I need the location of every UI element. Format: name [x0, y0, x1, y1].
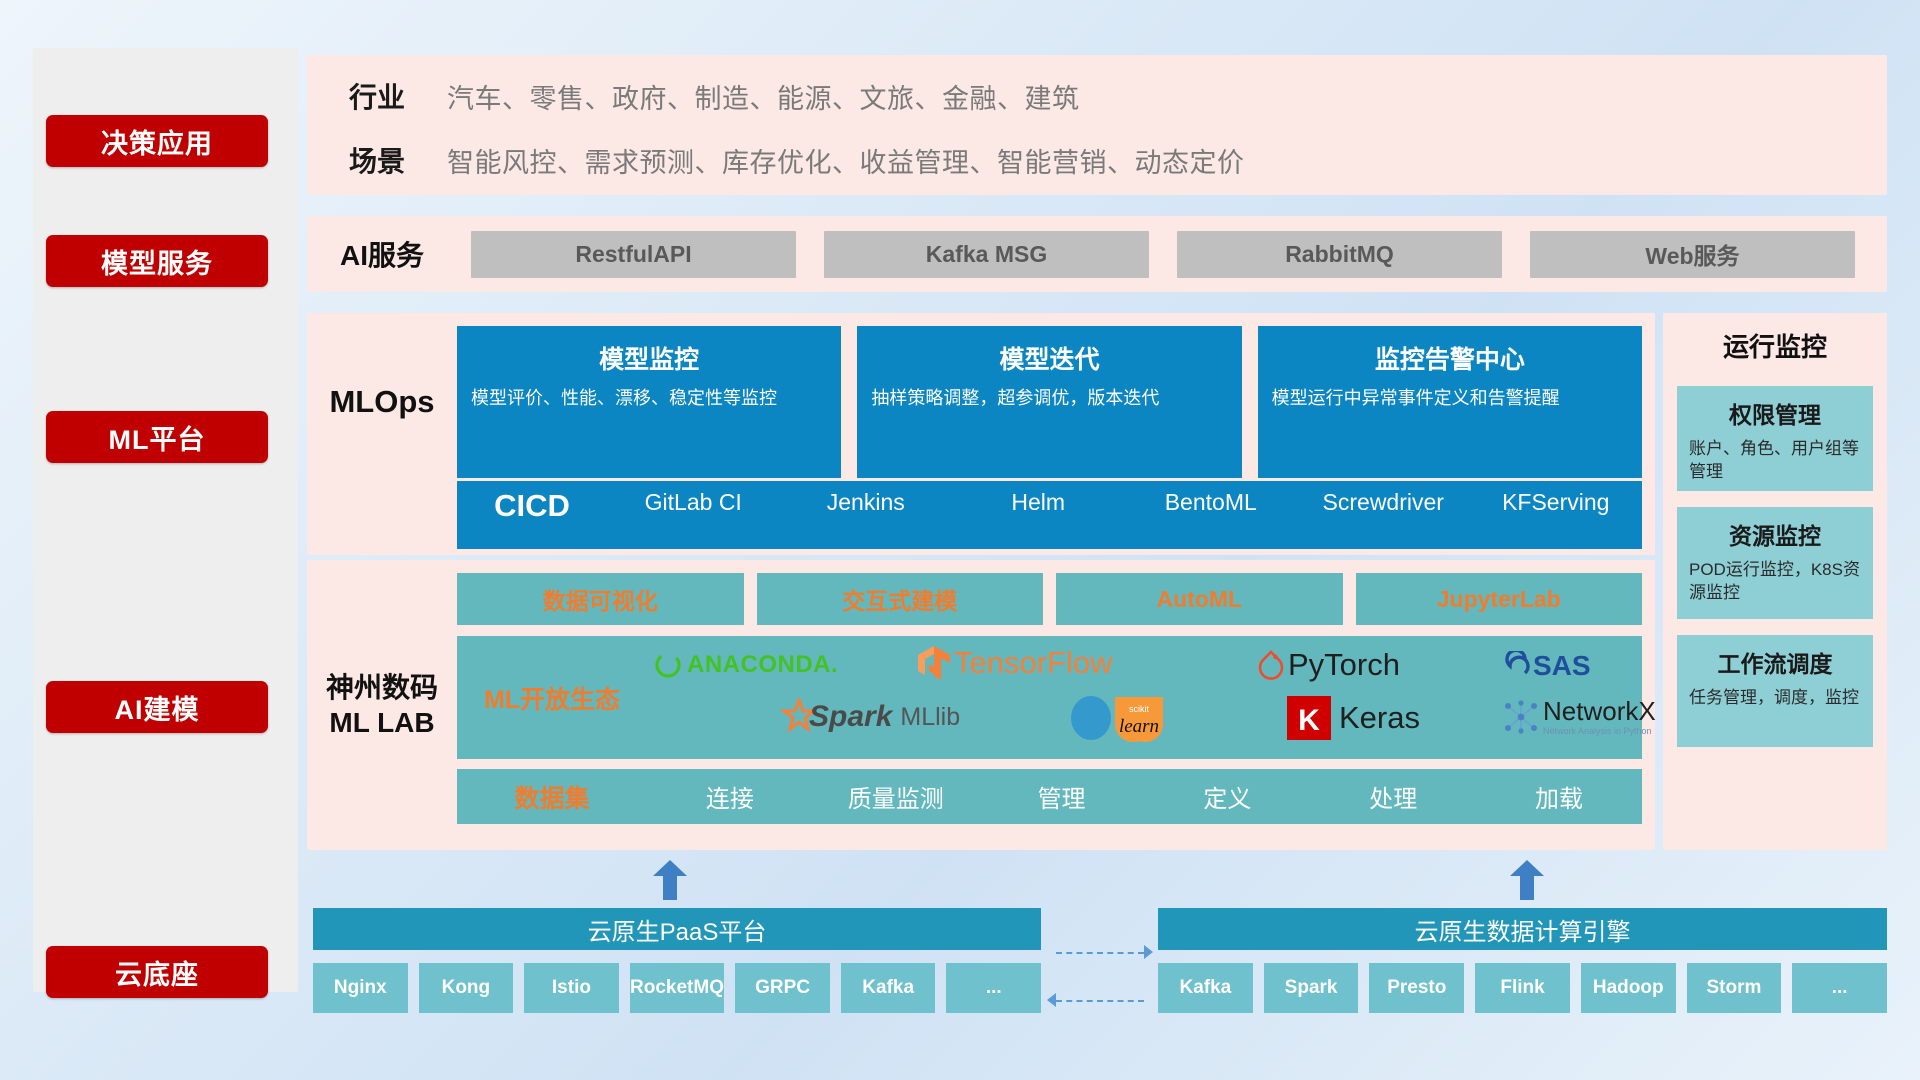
- tensorflow-logo: TensorFlow: [917, 644, 1113, 682]
- monitor-card-title: 权限管理: [1689, 396, 1861, 430]
- sas-logo: SAS: [1502, 650, 1591, 682]
- engine-chip-kafka[interactable]: Kafka: [1158, 963, 1253, 1013]
- svg-text:learn: learn: [1119, 716, 1159, 737]
- paas-chip-kong[interactable]: Kong: [419, 963, 514, 1013]
- ml-ecosystem-title: ML开放生态: [457, 680, 647, 716]
- engine-title: 云原生数据计算引擎: [1158, 908, 1887, 950]
- monitor-card-desc: POD运行监控，K8S资源监控: [1689, 559, 1861, 605]
- sas-icon: [1502, 651, 1532, 681]
- ai-service-chip-rabbitmq[interactable]: RabbitMQ: [1177, 231, 1502, 278]
- spark-icon: [767, 698, 813, 736]
- engine-chip-hadoop[interactable]: Hadoop: [1581, 963, 1676, 1013]
- monitor-card-permission[interactable]: 权限管理 账户、角色、用户组等管理: [1677, 386, 1873, 491]
- cicd-tool-gitlab-ci[interactable]: GitLab CI: [607, 489, 780, 515]
- dataset-item-process[interactable]: 处理: [1310, 779, 1476, 814]
- svg-text:scikit: scikit: [1129, 704, 1149, 714]
- ml-lab-tool-jupyterlab[interactable]: JupyterLab: [1356, 573, 1643, 625]
- monitor-card-desc: 账户、角色、用户组等管理: [1689, 438, 1861, 484]
- mlops-card-alert-center[interactable]: 监控告警中心 模型运行中异常事件定义和告警提醒: [1258, 326, 1642, 478]
- paas-block: 云原生PaaS平台 Nginx Kong Istio RocketMQ GRPC…: [313, 908, 1041, 1013]
- ml-lab-tool-data-visualization[interactable]: 数据可视化: [457, 573, 744, 625]
- application-band: 行业 汽车、零售、政府、制造、能源、文旅、金融、建筑 场景 智能风控、需求预测、…: [307, 55, 1887, 195]
- mlops-card-title: 模型监控: [471, 340, 827, 376]
- dataset-item-manage[interactable]: 管理: [979, 779, 1145, 814]
- cicd-brand: CICD: [457, 489, 607, 523]
- svg-text:K: K: [1298, 704, 1320, 737]
- engine-chip-storm[interactable]: Storm: [1687, 963, 1782, 1013]
- mlops-card-title: 模型迭代: [871, 340, 1227, 376]
- cicd-tool-helm[interactable]: Helm: [952, 489, 1125, 515]
- ai-service-label: AI服务: [307, 234, 457, 274]
- anaconda-logo: ANACONDA.: [653, 650, 838, 680]
- paas-chip-nginx[interactable]: Nginx: [313, 963, 408, 1013]
- layer-tag-model-service[interactable]: 模型服务: [46, 235, 268, 287]
- dataset-item-connect[interactable]: 连接: [647, 779, 813, 814]
- monitor-card-desc: 任务管理，调度，监控: [1689, 687, 1861, 710]
- networkx-label: NetworkX: [1543, 698, 1656, 724]
- dataset-title: 数据集: [457, 779, 647, 815]
- cicd-tool-kfserving[interactable]: KFServing: [1470, 489, 1643, 515]
- paas-chip-grpc[interactable]: GRPC: [735, 963, 830, 1013]
- keras-label: Keras: [1339, 700, 1420, 736]
- tensorflow-icon: [917, 644, 951, 682]
- pytorch-logo: PyTorch: [1257, 647, 1400, 683]
- scenario-label: 场景: [307, 140, 447, 180]
- ml-ecosystem-row: ML开放生态 ANACONDA.: [457, 636, 1642, 759]
- pytorch-icon: [1257, 649, 1285, 681]
- layer-tag-cloud-base[interactable]: 云底座: [46, 946, 268, 998]
- layer-tag-decision[interactable]: 决策应用: [46, 115, 268, 167]
- engine-up-arrow: [1510, 860, 1544, 900]
- ai-service-chip-restfulapi[interactable]: RestfulAPI: [471, 231, 796, 278]
- connector-left-arrowhead: [1047, 993, 1056, 1007]
- monitor-card-title: 资源监控: [1689, 517, 1861, 551]
- scikit-learn-icon: scikit learn: [1065, 694, 1169, 742]
- anaconda-label: ANACONDA.: [687, 651, 838, 679]
- industry-values: 汽车、零售、政府、制造、能源、文旅、金融、建筑: [447, 77, 1080, 116]
- ai-service-band: AI服务 RestfulAPI Kafka MSG RabbitMQ Web服务: [307, 216, 1887, 292]
- layer-tag-ml-platform[interactable]: ML平台: [46, 411, 268, 463]
- paas-chip-rocketmq[interactable]: RocketMQ: [630, 963, 725, 1013]
- cicd-tool-screwdriver[interactable]: Screwdriver: [1297, 489, 1470, 515]
- runtime-monitor-title: 运行监控: [1663, 313, 1887, 364]
- ml-lab-band: 神州数码 ML LAB 数据可视化 交互式建模 AutoML JupyterLa…: [307, 560, 1655, 850]
- mlops-label: MLOps: [307, 326, 457, 478]
- tensorflow-label: TensorFlow: [954, 645, 1113, 681]
- paas-chip-kafka[interactable]: Kafka: [841, 963, 936, 1013]
- ml-lab-label-line1: 神州数码: [326, 670, 438, 705]
- dataset-row: 数据集 连接 质量监测 管理 定义 处理 加载: [457, 769, 1642, 824]
- mllib-label: MLlib: [900, 703, 960, 732]
- networkx-tagline: Network Analysis in Python: [1543, 727, 1656, 736]
- runtime-monitor-panel: 运行监控 权限管理 账户、角色、用户组等管理 资源监控 POD运行监控，K8S资…: [1663, 313, 1887, 850]
- cicd-row: CICD GitLab CI Jenkins Helm BentoML Scre…: [457, 481, 1642, 549]
- cicd-tool-jenkins[interactable]: Jenkins: [780, 489, 953, 515]
- paas-chip-more[interactable]: ...: [946, 963, 1041, 1013]
- ai-service-chip-web[interactable]: Web服务: [1530, 231, 1855, 278]
- scenario-values: 智能风控、需求预测、库存优化、收益管理、智能营销、动态定价: [447, 141, 1245, 180]
- mlops-card-desc: 抽样策略调整，超参调优，版本迭代: [871, 386, 1227, 410]
- ml-lab-tool-row: 数据可视化 交互式建模 AutoML JupyterLab: [457, 573, 1642, 625]
- mlops-card-model-iteration[interactable]: 模型迭代 抽样策略调整，超参调优，版本迭代: [857, 326, 1241, 478]
- diagram-canvas: 决策应用 模型服务 ML平台 AI建模 云底座 行业 汽车、零售、政府、制造、能…: [0, 0, 1920, 1080]
- layer-tag-ai-modeling[interactable]: AI建模: [46, 681, 268, 733]
- engine-block: 云原生数据计算引擎 Kafka Spark Presto Flink Hadoo…: [1158, 908, 1887, 1013]
- keras-logo: K Keras: [1287, 696, 1420, 740]
- engine-chip-row: Kafka Spark Presto Flink Hadoop Storm ..…: [1158, 963, 1887, 1013]
- scenario-row: 场景 智能风控、需求预测、库存优化、收益管理、智能营销、动态定价: [307, 129, 1887, 191]
- ml-lab-tool-interactive-modeling[interactable]: 交互式建模: [757, 573, 1044, 625]
- dataset-item-load[interactable]: 加载: [1476, 779, 1642, 814]
- mlops-band: MLOps 模型监控 模型评价、性能、漂移、稳定性等监控 模型迭代 抽样策略调整…: [307, 313, 1655, 555]
- connector-right-arrowhead: [1144, 945, 1153, 959]
- cicd-tool-bentoml[interactable]: BentoML: [1125, 489, 1298, 515]
- engine-chip-more[interactable]: ...: [1792, 963, 1887, 1013]
- spark-label: Spark: [809, 700, 892, 734]
- keras-icon: K: [1287, 696, 1331, 740]
- pytorch-label: PyTorch: [1288, 647, 1400, 683]
- industry-label: 行业: [307, 76, 447, 116]
- ml-lab-label-line2: ML LAB: [329, 705, 434, 740]
- networkx-logo: NetworkX Network Analysis in Python: [1502, 698, 1656, 736]
- paas-chip-istio[interactable]: Istio: [524, 963, 619, 1013]
- layer-rail: 决策应用 模型服务 ML平台 AI建模 云底座: [33, 48, 298, 992]
- ml-ecosystem-logos: ANACONDA. TensorFlow: [647, 636, 1642, 759]
- connector-right-dashed: [1056, 952, 1144, 954]
- dataset-item-quality[interactable]: 质量监测: [813, 779, 979, 814]
- anaconda-icon: [653, 650, 683, 680]
- scikit-learn-logo: scikit learn: [1065, 694, 1169, 742]
- monitor-card-resource[interactable]: 资源监控 POD运行监控，K8S资源监控: [1677, 507, 1873, 619]
- engine-chip-presto[interactable]: Presto: [1369, 963, 1464, 1013]
- engine-chip-spark[interactable]: Spark: [1264, 963, 1359, 1013]
- mlops-card-title: 监控告警中心: [1272, 340, 1628, 376]
- monitor-card-workflow[interactable]: 工作流调度 任务管理，调度，监控: [1677, 635, 1873, 747]
- paas-up-arrow: [653, 860, 687, 900]
- mlops-card-model-monitoring[interactable]: 模型监控 模型评价、性能、漂移、稳定性等监控: [457, 326, 841, 478]
- mlops-card-desc: 模型评价、性能、漂移、稳定性等监控: [471, 386, 827, 410]
- ai-service-chip-kafka-msg[interactable]: Kafka MSG: [824, 231, 1149, 278]
- sas-label: SAS: [1533, 650, 1591, 682]
- paas-chip-row: Nginx Kong Istio RocketMQ GRPC Kafka ...: [313, 963, 1041, 1013]
- spark-mllib-logo: Spark MLlib: [767, 698, 960, 736]
- monitor-card-title: 工作流调度: [1689, 645, 1861, 679]
- engine-chip-flink[interactable]: Flink: [1475, 963, 1570, 1013]
- mlops-card-desc: 模型运行中异常事件定义和告警提醒: [1272, 386, 1628, 410]
- paas-title: 云原生PaaS平台: [313, 908, 1041, 950]
- industry-row: 行业 汽车、零售、政府、制造、能源、文旅、金融、建筑: [307, 63, 1887, 129]
- dataset-item-define[interactable]: 定义: [1144, 779, 1310, 814]
- networkx-icon: [1502, 698, 1540, 736]
- ml-lab-label: 神州数码 ML LAB: [307, 560, 457, 850]
- ml-lab-tool-automl[interactable]: AutoML: [1056, 573, 1343, 625]
- connector-left-dashed: [1056, 1000, 1144, 1002]
